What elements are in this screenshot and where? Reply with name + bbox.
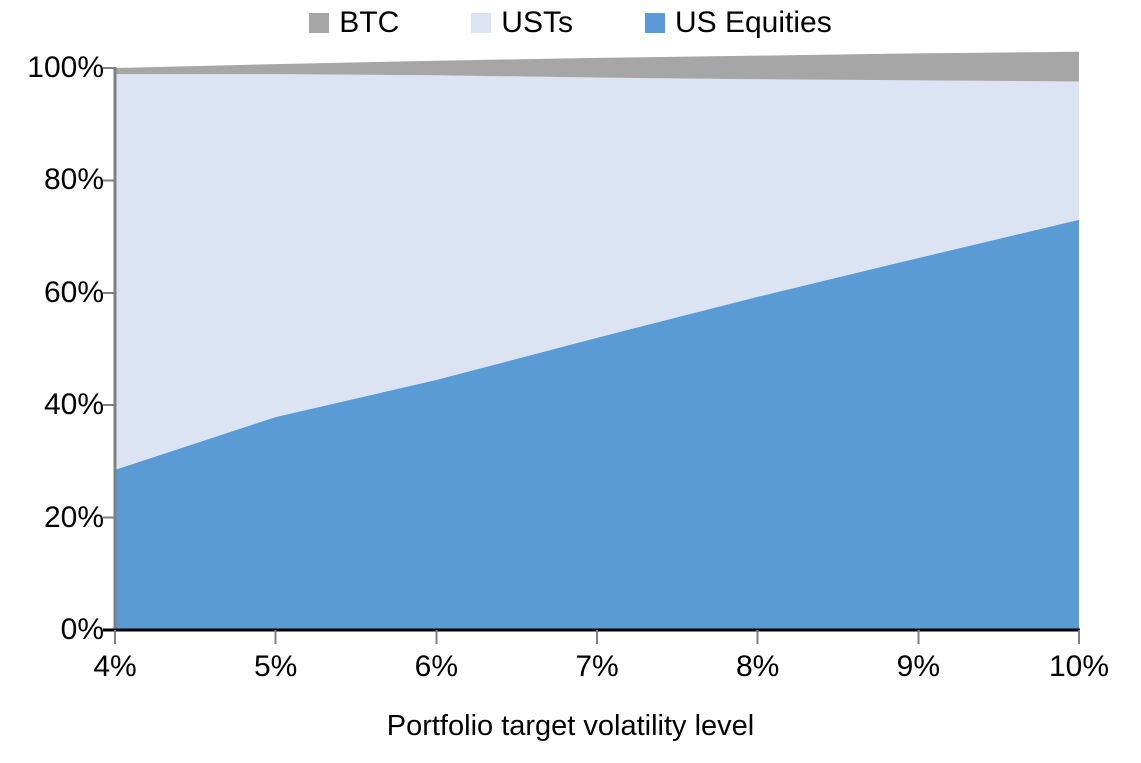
x-axis-tick-labels: 4%5%6%7%8%9%10% [0,0,1141,763]
x-axis-tick-label: 9% [858,652,978,682]
x-axis-title: Portfolio target volatility level [0,710,1141,742]
x-axis-tick-label: 6% [376,652,496,682]
x-axis-tick-label: 7% [537,652,657,682]
x-axis-tick-label: 8% [698,652,818,682]
x-axis-tick-label: 5% [216,652,336,682]
x-axis-tick-label: 10% [1019,652,1139,682]
chart-root: BTC USTs US Equities 0%20%40%60%80%100% … [0,0,1141,763]
x-axis-tick-label: 4% [55,652,175,682]
